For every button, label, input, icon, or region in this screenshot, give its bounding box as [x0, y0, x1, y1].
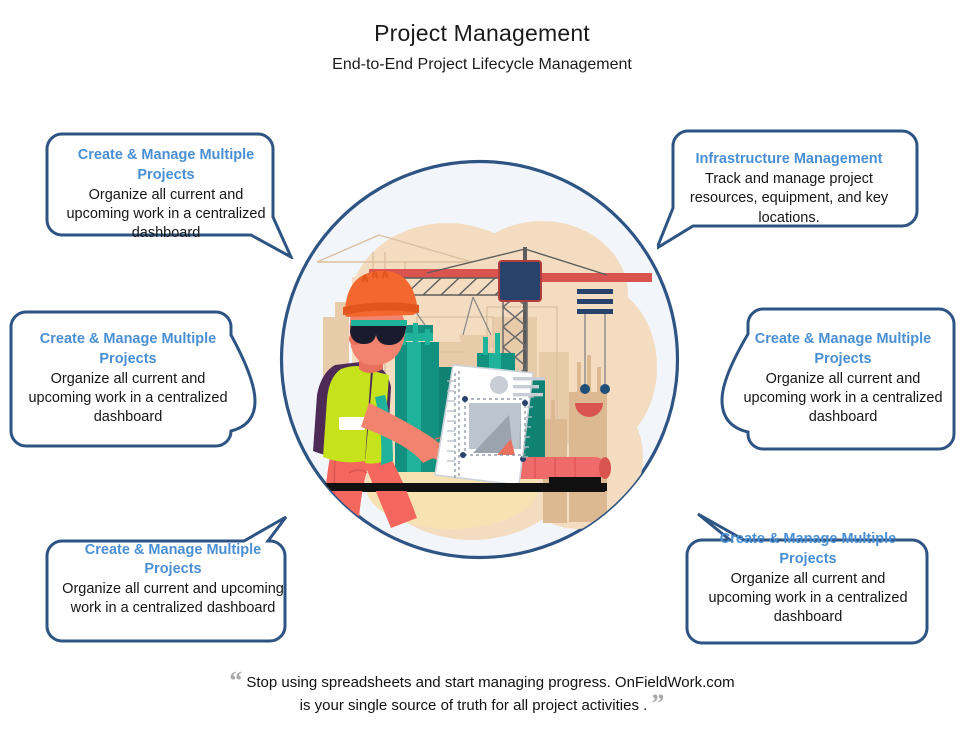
- quote-open-icon: “: [229, 666, 242, 695]
- callout-body: Organize all current and upcoming work i…: [58, 186, 274, 244]
- quote-text-2: is your single source of truth for all p…: [300, 697, 648, 714]
- page-subtitle: End-to-End Project Lifecycle Management: [0, 56, 964, 74]
- callout-top-left[interactable]: Create & Manage Multiple Projects Organi…: [44, 131, 294, 259]
- callout-heading: Create & Manage Multiple Projects: [743, 330, 943, 368]
- callout-top-right[interactable]: Infrastructure Management Track and mana…: [657, 128, 919, 250]
- callout-bottom-right[interactable]: Create & Manage Multiple Projects Organi…: [684, 512, 930, 646]
- central-illustration-circle: [277, 157, 682, 562]
- quote-line-1: “Stop using spreadsheets and start manag…: [0, 672, 964, 695]
- page-title: Project Management: [0, 20, 964, 47]
- illustration-svg: [277, 157, 682, 562]
- callout-body: Organize all current and upcoming work i…: [22, 370, 234, 428]
- callout-heading: Create & Manage Multiple Projects: [22, 330, 234, 368]
- footer-quote: “Stop using spreadsheets and start manag…: [0, 672, 964, 717]
- infographic-canvas: Project Management End-to-End Project Li…: [0, 0, 964, 734]
- callout-body: Organize all current and upcoming work i…: [58, 580, 288, 619]
- callout-heading: Create & Manage Multiple Projects: [58, 541, 288, 579]
- callout-body: Track and manage project resources, equi…: [673, 170, 905, 228]
- callout-middle-left[interactable]: Create & Manage Multiple Projects Organi…: [8, 309, 258, 449]
- callout-heading: Create & Manage Multiple Projects: [58, 146, 274, 184]
- quote-close-icon: ”: [651, 689, 664, 718]
- callout-middle-right[interactable]: Create & Manage Multiple Projects Organi…: [717, 306, 957, 452]
- callout-heading: Infrastructure Management: [696, 150, 883, 169]
- quote-line-2: is your single source of truth for all p…: [0, 695, 964, 718]
- callout-body: Organize all current and upcoming work i…: [743, 370, 943, 428]
- callout-heading: Create & Manage Multiple Projects: [700, 530, 916, 568]
- callout-body: Organize all current and upcoming work i…: [700, 570, 916, 628]
- callout-bottom-left[interactable]: Create & Manage Multiple Projects Organi…: [44, 515, 306, 644]
